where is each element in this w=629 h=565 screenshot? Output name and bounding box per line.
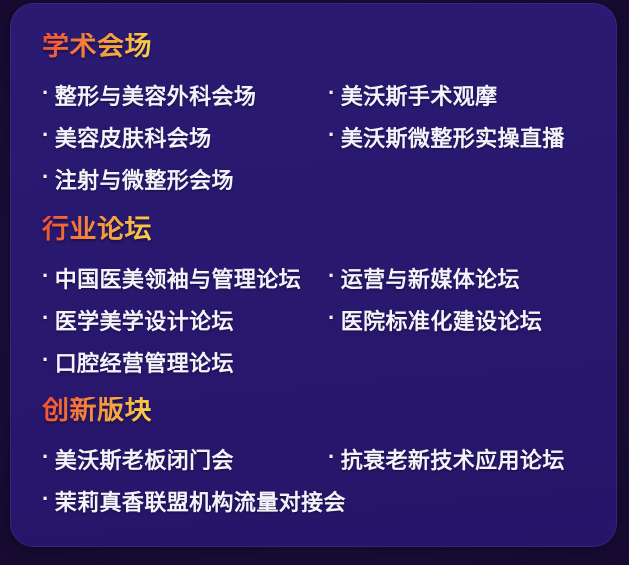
- list-item[interactable]: · 茉莉真香联盟机构流量对接会: [42, 480, 346, 522]
- list-item-label: 中国医美领袖与管理论坛: [55, 262, 301, 294]
- list-row: · 美沃斯老板闭门会 · 抗衰老新技术应用论坛: [10, 438, 617, 480]
- list-item[interactable]: · 美容皮肤科会场: [42, 116, 212, 158]
- bullet-icon: ·: [42, 349, 50, 371]
- list-item-label: 医院标准化建设论坛: [341, 304, 543, 336]
- list-item-label: 口腔经营管理论坛: [55, 346, 234, 378]
- list-row: · 美容皮肤科会场 · 美沃斯微整形实操直播: [10, 116, 617, 158]
- list-item-label: 医学美学设计论坛: [55, 304, 234, 336]
- list-item-label: 美沃斯老板闭门会: [55, 443, 234, 475]
- list-row: · 口腔经营管理论坛: [10, 341, 617, 383]
- agenda-card: 学术会场 · 整形与美容外科会场 · 美沃斯手术观摩 · 美容皮肤科会场: [10, 3, 617, 547]
- list-item-label: 美沃斯手术观摩: [341, 79, 498, 111]
- list-row: · 茉莉真香联盟机构流量对接会: [10, 480, 617, 522]
- list-row: · 整形与美容外科会场 · 美沃斯手术观摩: [10, 74, 617, 116]
- section-item-list: · 整形与美容外科会场 · 美沃斯手术观摩 · 美容皮肤科会场 ·: [10, 74, 617, 200]
- section-title: 学术会场: [42, 33, 152, 60]
- list-item[interactable]: · 中国医美领袖与管理论坛: [42, 257, 301, 299]
- section-title: 创新版块: [42, 397, 152, 424]
- list-row: · 注射与微整形会场: [10, 158, 617, 200]
- list-item[interactable]: · 运营与新媒体论坛: [328, 257, 520, 299]
- list-item[interactable]: · 注射与微整形会场: [42, 158, 234, 200]
- bullet-icon: ·: [42, 307, 50, 329]
- bullet-icon: ·: [42, 488, 50, 510]
- list-item-label: 茉莉真香联盟机构流量对接会: [55, 485, 346, 517]
- list-item[interactable]: · 美沃斯老板闭门会: [42, 438, 234, 480]
- list-item-label: 抗衰老新技术应用论坛: [341, 443, 565, 475]
- bullet-icon: ·: [42, 446, 50, 468]
- list-item-label: 注射与微整形会场: [55, 163, 234, 195]
- list-item-label: 整形与美容外科会场: [55, 79, 257, 111]
- bullet-icon: ·: [328, 265, 336, 287]
- section-title: 行业论坛: [42, 216, 152, 243]
- bullet-icon: ·: [328, 82, 336, 104]
- list-item-label: 美沃斯微整形实操直播: [341, 121, 565, 153]
- list-item[interactable]: · 抗衰老新技术应用论坛: [328, 438, 565, 480]
- list-item[interactable]: · 口腔经营管理论坛: [42, 341, 234, 383]
- section-innovation: 创新版块 · 美沃斯老板闭门会 · 抗衰老新技术应用论坛 · 茉莉真香联盟: [10, 397, 617, 522]
- list-item[interactable]: · 美沃斯微整形实操直播: [328, 116, 565, 158]
- section-item-list: · 美沃斯老板闭门会 · 抗衰老新技术应用论坛 · 茉莉真香联盟机构流量对接会: [10, 438, 617, 522]
- list-item-label: 美容皮肤科会场: [55, 121, 212, 153]
- bullet-icon: ·: [328, 446, 336, 468]
- bullet-icon: ·: [42, 124, 50, 146]
- bullet-icon: ·: [328, 307, 336, 329]
- bullet-icon: ·: [328, 124, 336, 146]
- list-row: · 中国医美领袖与管理论坛 · 运营与新媒体论坛: [10, 257, 617, 299]
- list-item[interactable]: · 整形与美容外科会场: [42, 74, 256, 116]
- section-industry-forum: 行业论坛 · 中国医美领袖与管理论坛 · 运营与新媒体论坛 · 医学美学设: [10, 216, 617, 383]
- section-academic: 学术会场 · 整形与美容外科会场 · 美沃斯手术观摩 · 美容皮肤科会场: [10, 33, 617, 200]
- list-item-label: 运营与新媒体论坛: [341, 262, 520, 294]
- list-item[interactable]: · 医院标准化建设论坛: [328, 299, 542, 341]
- bullet-icon: ·: [42, 82, 50, 104]
- bullet-icon: ·: [42, 166, 50, 188]
- list-item[interactable]: · 医学美学设计论坛: [42, 299, 234, 341]
- bullet-icon: ·: [42, 265, 50, 287]
- poster-canvas: 学术会场 · 整形与美容外科会场 · 美沃斯手术观摩 · 美容皮肤科会场: [0, 0, 629, 565]
- list-row: · 医学美学设计论坛 · 医院标准化建设论坛: [10, 299, 617, 341]
- list-item[interactable]: · 美沃斯手术观摩: [328, 74, 498, 116]
- section-item-list: · 中国医美领袖与管理论坛 · 运营与新媒体论坛 · 医学美学设计论坛 ·: [10, 257, 617, 383]
